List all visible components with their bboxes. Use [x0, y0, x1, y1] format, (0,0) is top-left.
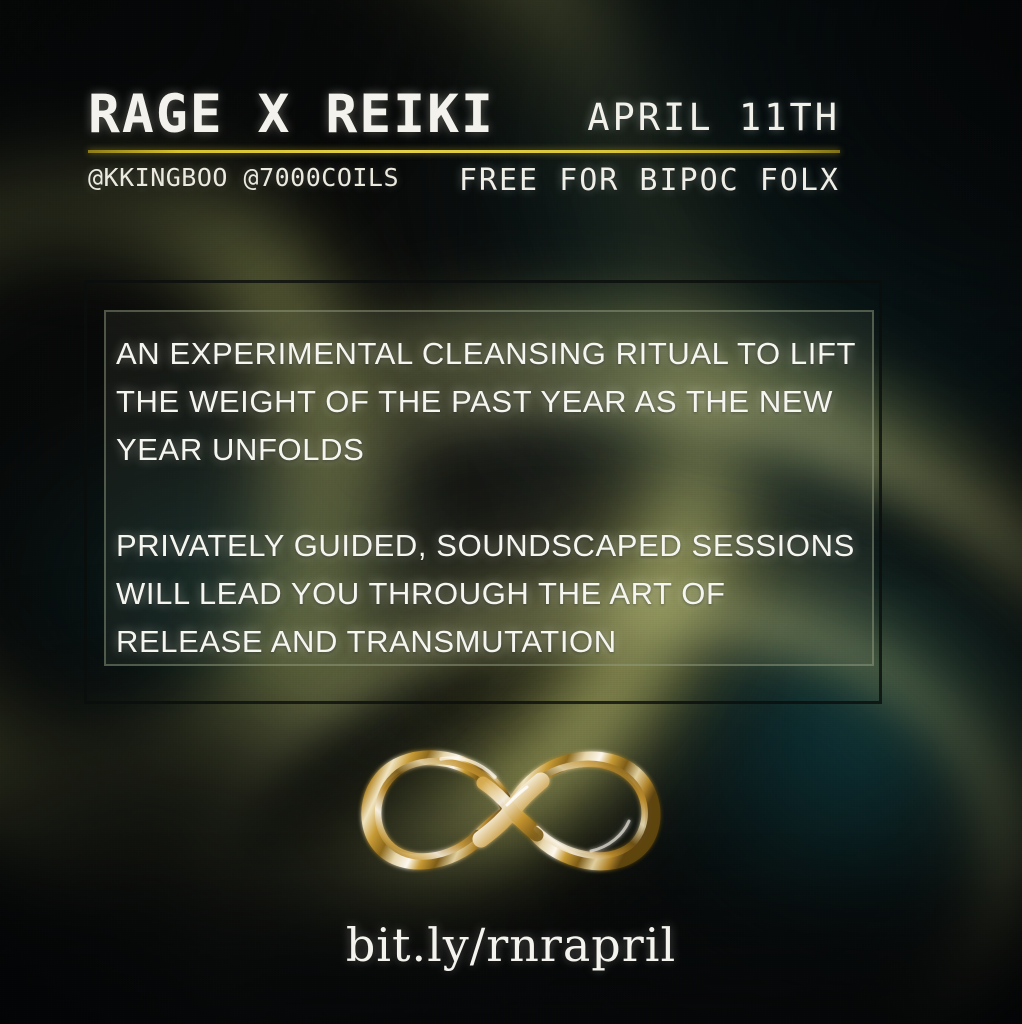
event-title: RAGE X REIKI	[88, 88, 495, 141]
header-top-row: RAGE X REIKI APRIL 11TH	[88, 88, 840, 141]
flyer-header: RAGE X REIKI APRIL 11TH @KKINGBOO @7000C…	[88, 88, 840, 198]
header-bottom-row: @KKINGBOO @7000COILS FREE FOR BIPOC FOLX	[88, 163, 840, 198]
event-flyer: RAGE X REIKI APRIL 11TH @KKINGBOO @7000C…	[0, 0, 1022, 1024]
description-paragraph-2: PRIVATELY GUIDED, SOUNDSCAPED SESSIONS W…	[116, 522, 864, 666]
infinity-icon	[341, 735, 681, 885]
description-paragraph-1: AN EXPERIMENTAL CLEANSING RITUAL TO LIFT…	[116, 330, 864, 474]
gold-divider-rule	[88, 150, 840, 153]
admission-note: FREE FOR BIPOC FOLX	[459, 163, 840, 198]
description-text-block: AN EXPERIMENTAL CLEANSING RITUAL TO LIFT…	[116, 330, 864, 666]
paragraph-spacer	[116, 474, 864, 522]
event-date: APRIL 11TH	[587, 99, 840, 141]
signup-link[interactable]: bit.ly/rnrapril	[0, 918, 1022, 972]
social-handles: @KKINGBOO @7000COILS	[88, 163, 399, 192]
